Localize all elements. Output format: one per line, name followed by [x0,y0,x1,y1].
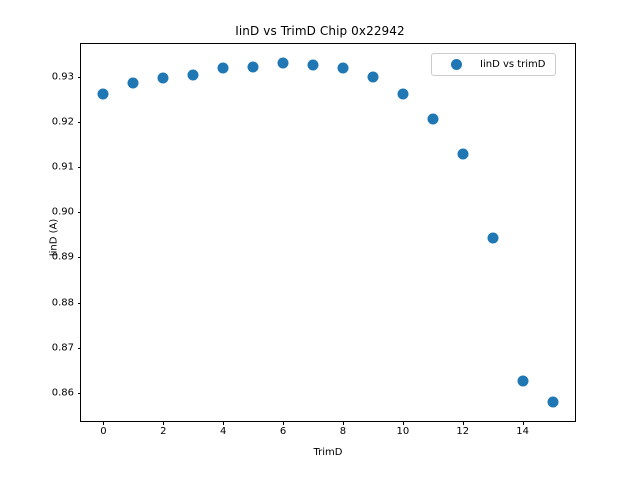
data-point [248,62,259,73]
x-axis-tick [163,421,164,425]
legend-marker-icon [451,59,462,70]
y-axis-tick [78,212,82,213]
data-point [337,63,348,74]
x-axis-tick-label: 6 [280,426,286,437]
data-point [547,396,558,407]
x-axis-tick-label: 4 [220,426,226,437]
x-axis-tick [463,421,464,425]
y-axis-tick-label: 0.92 [52,117,74,128]
data-point [517,376,528,387]
data-point [128,77,139,88]
data-point [427,113,438,124]
data-point [308,59,319,70]
data-point [218,63,229,74]
y-axis-tick [78,122,82,123]
data-point [98,89,109,100]
x-axis-tick-label: 12 [456,426,469,437]
chart-title: IinD vs TrimD Chip 0x22942 [0,24,640,38]
data-point [278,58,289,69]
y-axis-tick [78,348,82,349]
y-axis-tick-label: 0.88 [52,297,74,308]
legend-entry-label: IinD vs trimD [480,59,546,70]
x-axis-tick [223,421,224,425]
data-point [487,232,498,243]
chart-legend: IinD vs trimD [431,53,556,76]
y-axis-tick-label: 0.91 [52,162,74,173]
data-point [457,149,468,160]
x-axis-tick-label: 10 [396,426,409,437]
x-axis-tick [523,421,524,425]
data-point [158,72,169,83]
y-axis-tick [78,77,82,78]
x-axis-tick-label: 0 [100,426,106,437]
data-point [397,88,408,99]
y-axis-tick [78,257,82,258]
x-axis-tick [283,421,284,425]
x-axis-tick [103,421,104,425]
y-axis-tick [78,393,82,394]
y-axis-tick [78,167,82,168]
chart-figure: IinD vs TrimD Chip 0x22942 0.860.870.880… [0,0,640,480]
x-axis-tick-label: 8 [340,426,346,437]
x-axis-label: TrimD [80,447,576,458]
y-axis-label: IinD (A) [49,178,60,298]
data-point [367,72,378,83]
plot-axes: 0.860.870.880.890.900.910.920.9302468101… [80,43,576,422]
y-axis-tick-label: 0.93 [52,72,74,83]
y-axis-tick-label: 0.86 [52,387,74,398]
y-axis-tick-label: 0.87 [52,342,74,353]
y-axis-tick [78,303,82,304]
legend-swatch-wrapper [441,59,471,70]
data-point [188,69,199,80]
x-axis-tick [343,421,344,425]
plot-area [81,44,575,421]
x-axis-tick [403,421,404,425]
x-axis-tick-label: 14 [516,426,529,437]
x-axis-tick-label: 2 [160,426,166,437]
